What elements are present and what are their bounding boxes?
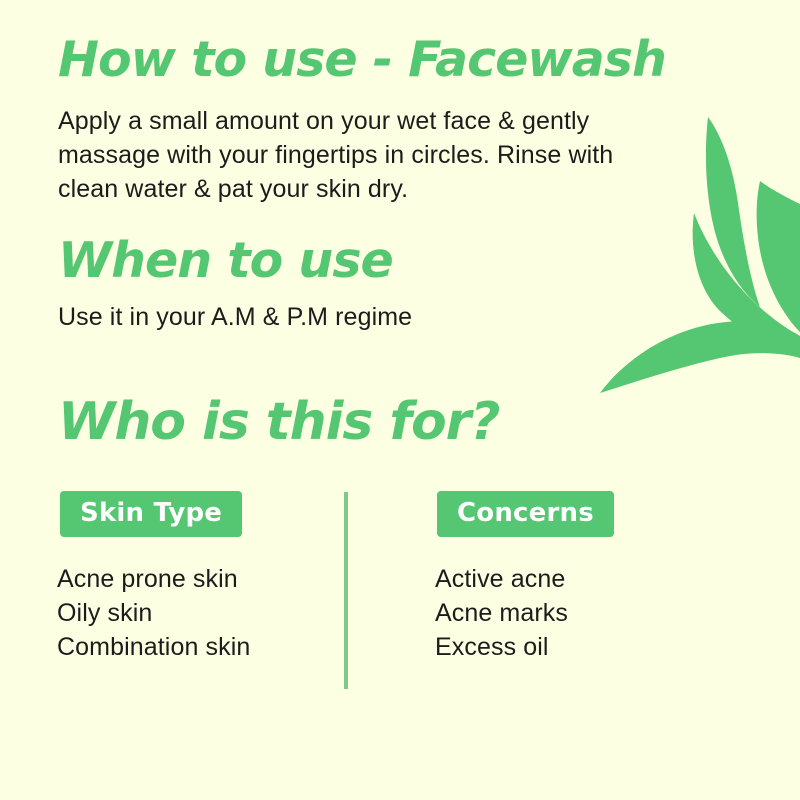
list-item: Acne marks xyxy=(435,596,614,630)
how-to-use-heading: How to use - Facewash xyxy=(58,35,666,84)
skin-type-list: Acne prone skin Oily skin Combination sk… xyxy=(57,562,250,664)
concerns-column: Concerns Active acne Acne marks Excess o… xyxy=(437,491,614,664)
when-to-use-body: Use it in your A.M & P.M regime xyxy=(58,300,678,334)
concerns-badge: Concerns xyxy=(437,491,614,537)
audience-columns: Skin Type Acne prone skin Oily skin Comb… xyxy=(0,491,800,701)
list-item: Excess oil xyxy=(435,630,614,664)
who-is-this-for-heading: Who is this for? xyxy=(58,396,499,448)
list-item: Combination skin xyxy=(57,630,250,664)
list-item: Active acne xyxy=(435,562,614,596)
concerns-list: Active acne Acne marks Excess oil xyxy=(435,562,614,664)
when-to-use-heading: When to use xyxy=(58,236,393,285)
list-item: Acne prone skin xyxy=(57,562,250,596)
facewash-info-card: How to use - Facewash Apply a small amou… xyxy=(0,0,800,800)
skin-type-badge: Skin Type xyxy=(60,491,242,537)
column-divider xyxy=(344,492,348,689)
how-to-use-body: Apply a small amount on your wet face & … xyxy=(58,104,678,206)
list-item: Oily skin xyxy=(57,596,250,630)
skin-type-column: Skin Type Acne prone skin Oily skin Comb… xyxy=(60,491,250,664)
